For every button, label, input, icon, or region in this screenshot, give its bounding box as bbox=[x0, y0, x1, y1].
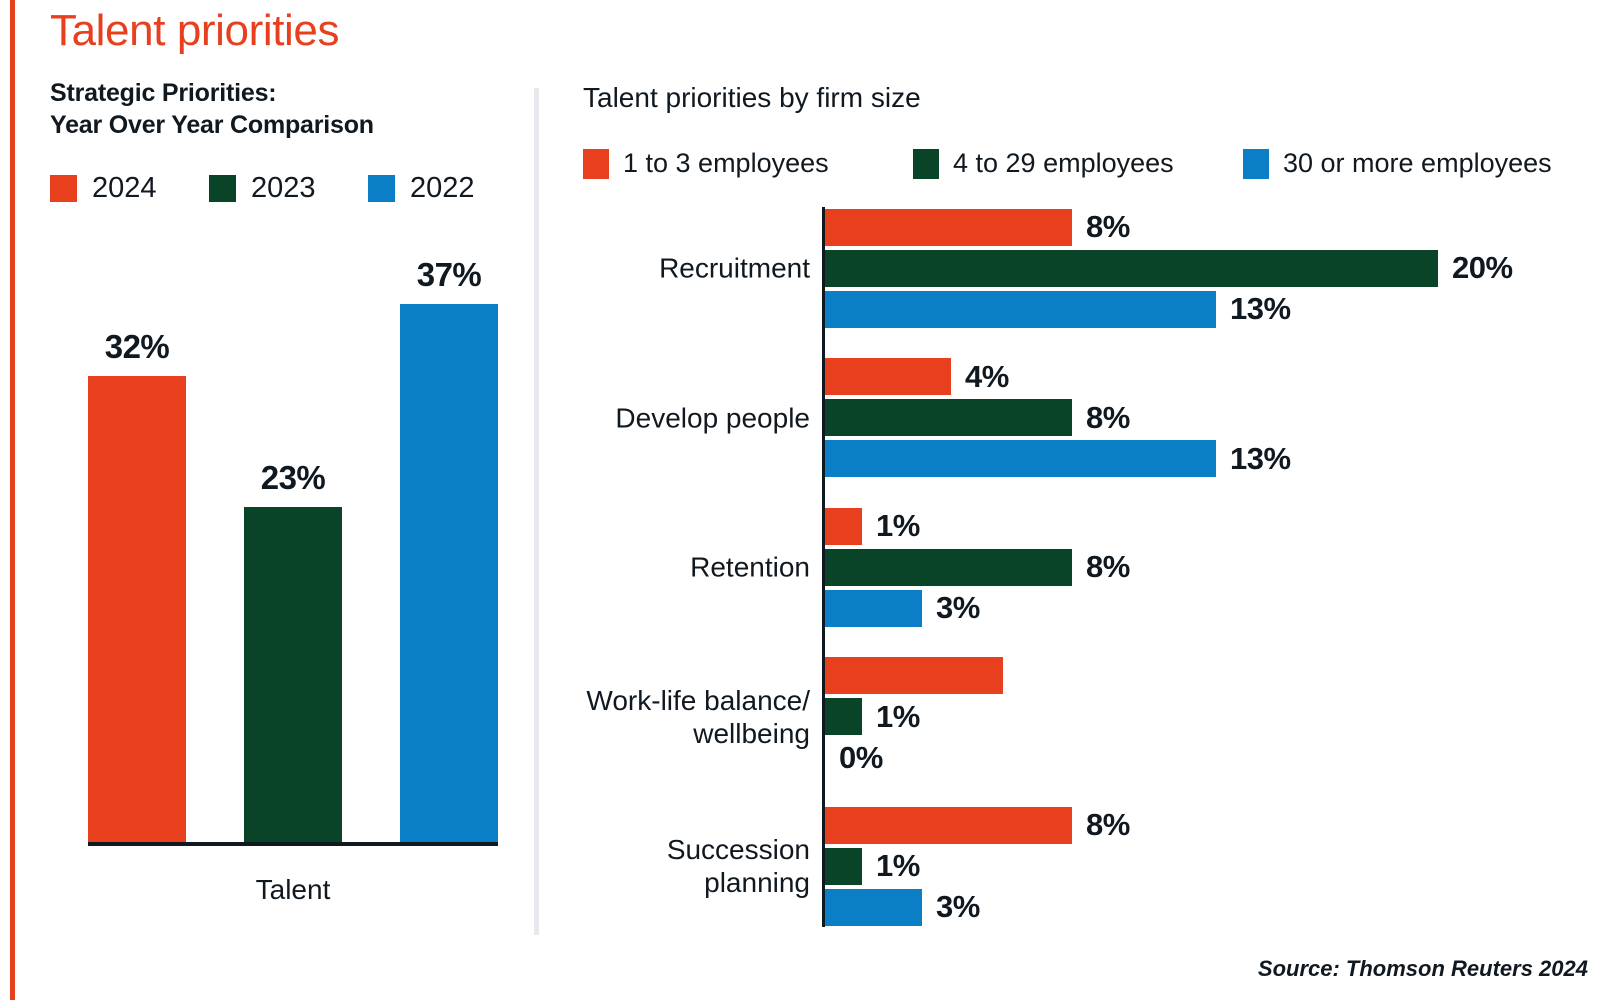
bar-value-label: 4% bbox=[965, 359, 1009, 395]
bar-value-label: 13% bbox=[1230, 441, 1291, 477]
bar-row: 13% bbox=[825, 291, 1600, 328]
bar-value-label: 8% bbox=[1086, 400, 1130, 436]
bar-value-label: 8% bbox=[1086, 209, 1130, 245]
legend-swatch-icon bbox=[913, 149, 939, 179]
bar-group-label: Recruitment bbox=[520, 251, 810, 284]
left-chart-axis bbox=[88, 842, 498, 846]
left-chart-subtitle-line2: Year Over Year Comparison bbox=[50, 110, 374, 142]
bar-group-label: Work-life balance/wellbeing bbox=[520, 683, 810, 749]
bar-group-label-line2: wellbeing bbox=[520, 717, 810, 750]
left-accent-rule bbox=[10, 0, 15, 1000]
right-panel: Talent priorities by firm size 1 to 3 em… bbox=[535, 0, 1600, 1000]
bar-group-label-line1: Succession bbox=[520, 833, 810, 866]
bar-group: Successionplanning8%1%3% bbox=[535, 805, 1600, 927]
bar-row: 3% bbox=[825, 889, 1600, 926]
bar-group-label: Successionplanning bbox=[520, 833, 810, 899]
bar-group-rows: 8%1%3% bbox=[825, 805, 1600, 927]
firm-size-legend-label: 30 or more employees bbox=[1283, 148, 1552, 179]
bar-value-label: 8% bbox=[1086, 549, 1130, 585]
firm-size-legend-item: 1 to 3 employees bbox=[583, 148, 913, 179]
bar-value-label: 0% bbox=[839, 740, 883, 776]
bar-row bbox=[825, 657, 1600, 694]
left-panel: Talent priorities Strategic Priorities: … bbox=[50, 0, 520, 1000]
bar-rect bbox=[825, 250, 1438, 287]
bar-row: 0% bbox=[825, 739, 1600, 776]
bar-rect bbox=[400, 304, 498, 842]
bar-row: 8% bbox=[825, 399, 1600, 436]
bar-value-label: 32% bbox=[105, 328, 170, 366]
firm-size-bar-chart: Recruitment8%20%13%Develop people4%8%13%… bbox=[535, 207, 1600, 927]
bar-group-rows: 8%20%13% bbox=[825, 207, 1600, 329]
bar-row: 8% bbox=[825, 549, 1600, 586]
right-chart-title: Talent priorities by firm size bbox=[583, 82, 921, 114]
bar-row: 3% bbox=[825, 590, 1600, 627]
bar-value-label: 8% bbox=[1086, 807, 1130, 843]
bar-row: 1% bbox=[825, 698, 1600, 735]
legend-swatch-icon bbox=[50, 175, 77, 202]
bar-rect bbox=[825, 399, 1072, 436]
bar-rect bbox=[825, 291, 1216, 328]
page-title: Talent priorities bbox=[50, 6, 339, 56]
bar-groups: Recruitment8%20%13%Develop people4%8%13%… bbox=[535, 207, 1600, 927]
bar-group: Recruitment8%20%13% bbox=[535, 207, 1600, 329]
bar-rect bbox=[825, 440, 1216, 477]
firm-size-legend: 1 to 3 employees4 to 29 employees30 or m… bbox=[583, 148, 1552, 179]
bar-rect bbox=[825, 657, 1003, 694]
bar-value-label: 37% bbox=[417, 256, 482, 294]
left-bar-columns: 32%23%37% bbox=[88, 242, 498, 842]
bar-row: 8% bbox=[825, 209, 1600, 246]
bar-group-label-line1: Develop people bbox=[520, 401, 810, 434]
bar-group: Develop people4%8%13% bbox=[535, 357, 1600, 479]
left-chart-subtitle-line1: Strategic Priorities: bbox=[50, 78, 374, 110]
bar-value-label: 1% bbox=[876, 848, 920, 884]
bar-group-label-line2: planning bbox=[520, 866, 810, 899]
left-bar-column: 23% bbox=[244, 242, 342, 842]
bar-group: Work-life balance/wellbeing1%0% bbox=[535, 656, 1600, 778]
bar-rect bbox=[825, 508, 862, 545]
bar-rect bbox=[825, 889, 922, 926]
bar-rect bbox=[244, 507, 342, 842]
bar-value-label: 23% bbox=[261, 459, 326, 497]
left-chart-category-label: Talent bbox=[88, 874, 498, 906]
firm-size-legend-label: 1 to 3 employees bbox=[623, 148, 829, 179]
legend-swatch-icon bbox=[583, 149, 609, 179]
left-bar-chart: 32%23%37% Talent bbox=[88, 238, 498, 858]
bar-group-rows: 1%8%3% bbox=[825, 506, 1600, 628]
bar-value-label: 20% bbox=[1452, 250, 1513, 286]
year-legend-label: 2024 bbox=[92, 172, 157, 205]
bar-rect bbox=[825, 549, 1072, 586]
year-legend-label: 2022 bbox=[410, 172, 475, 205]
bar-rect bbox=[825, 848, 862, 885]
bar-group-rows: 1%0% bbox=[825, 656, 1600, 778]
bar-row: 4% bbox=[825, 358, 1600, 395]
left-chart-subtitle: Strategic Priorities: Year Over Year Com… bbox=[50, 78, 374, 141]
bar-rect bbox=[825, 590, 922, 627]
bar-group-label-line1: Work-life balance/ bbox=[520, 683, 810, 716]
source-note: Source: Thomson Reuters 2024 bbox=[1258, 956, 1588, 982]
year-legend: 202420232022 bbox=[50, 172, 527, 205]
firm-size-legend-item: 4 to 29 employees bbox=[913, 148, 1243, 179]
bar-group-label-line1: Recruitment bbox=[520, 251, 810, 284]
bar-group-label: Retention bbox=[520, 550, 810, 583]
bar-row: 1% bbox=[825, 848, 1600, 885]
left-bar-column: 32% bbox=[88, 242, 186, 842]
bar-row: 1% bbox=[825, 508, 1600, 545]
bar-value-label: 3% bbox=[936, 889, 980, 925]
bar-rect bbox=[825, 698, 862, 735]
bar-rect bbox=[825, 358, 951, 395]
firm-size-legend-label: 4 to 29 employees bbox=[953, 148, 1174, 179]
bar-value-label: 13% bbox=[1230, 291, 1291, 327]
left-bar-column: 37% bbox=[400, 242, 498, 842]
year-legend-item: 2023 bbox=[209, 172, 368, 205]
bar-group-label-line1: Retention bbox=[520, 550, 810, 583]
bar-rect bbox=[88, 376, 186, 842]
bar-value-label: 1% bbox=[876, 699, 920, 735]
legend-swatch-icon bbox=[209, 175, 236, 202]
bar-value-label: 3% bbox=[936, 590, 980, 626]
year-legend-item: 2024 bbox=[50, 172, 209, 205]
bar-row: 20% bbox=[825, 250, 1600, 287]
bar-rect bbox=[825, 807, 1072, 844]
bar-group-label: Develop people bbox=[520, 401, 810, 434]
legend-swatch-icon bbox=[368, 175, 395, 202]
year-legend-label: 2023 bbox=[251, 172, 316, 205]
bar-value-label: 1% bbox=[876, 508, 920, 544]
bar-row: 13% bbox=[825, 440, 1600, 477]
bar-rect bbox=[825, 209, 1072, 246]
firm-size-legend-item: 30 or more employees bbox=[1243, 148, 1552, 179]
bar-row: 8% bbox=[825, 807, 1600, 844]
bar-group-rows: 4%8%13% bbox=[825, 357, 1600, 479]
year-legend-item: 2022 bbox=[368, 172, 527, 205]
bar-group: Retention1%8%3% bbox=[535, 506, 1600, 628]
legend-swatch-icon bbox=[1243, 149, 1269, 179]
